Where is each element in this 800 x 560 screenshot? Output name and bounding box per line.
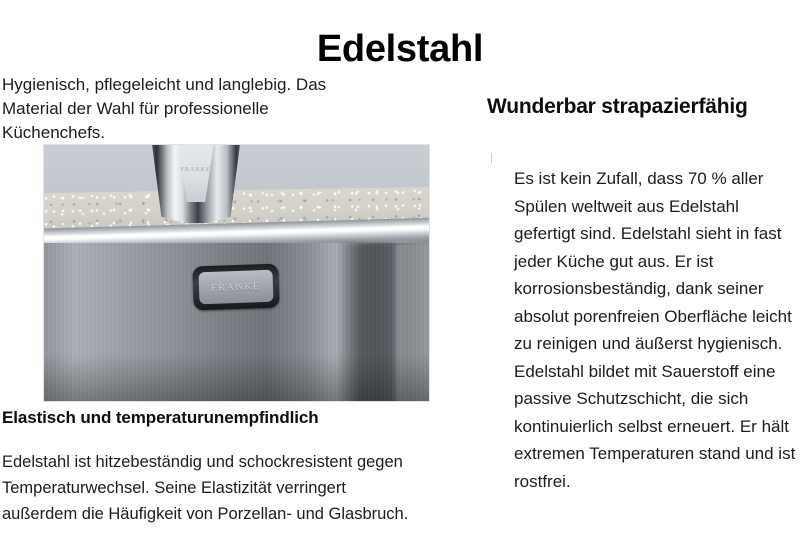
right-body-paragraph: Es ist kein Zufall, dass 70 % aller Spül… bbox=[514, 165, 796, 495]
basin-bottom-shadow bbox=[44, 353, 429, 401]
right-heading: Wunderbar strapazierfähig bbox=[487, 95, 748, 119]
franke-brand-label: FRANKE bbox=[211, 281, 261, 294]
faucet-brand-logo: FRANKE bbox=[181, 167, 211, 173]
product-photo: FRANKE FRANKE bbox=[43, 144, 430, 402]
right-column: | Es ist kein Zufall, dass 70 % aller Sp… bbox=[490, 148, 796, 512]
faucet-base: FRANKE bbox=[148, 145, 244, 223]
left-body-paragraph: Edelstahl ist hitzebeständig und schockr… bbox=[2, 449, 422, 527]
overflow-plate: FRANKE bbox=[192, 264, 279, 311]
intro-paragraph: Hygienisch, pflegeleicht und langlebig. … bbox=[2, 73, 372, 145]
left-sub-heading: Elastisch und temperaturunempfindlich bbox=[2, 408, 319, 428]
bullet-marker-icon: | bbox=[490, 148, 514, 512]
photo-inner: FRANKE FRANKE bbox=[44, 145, 429, 401]
overflow-plate-face: FRANKE bbox=[198, 270, 273, 305]
